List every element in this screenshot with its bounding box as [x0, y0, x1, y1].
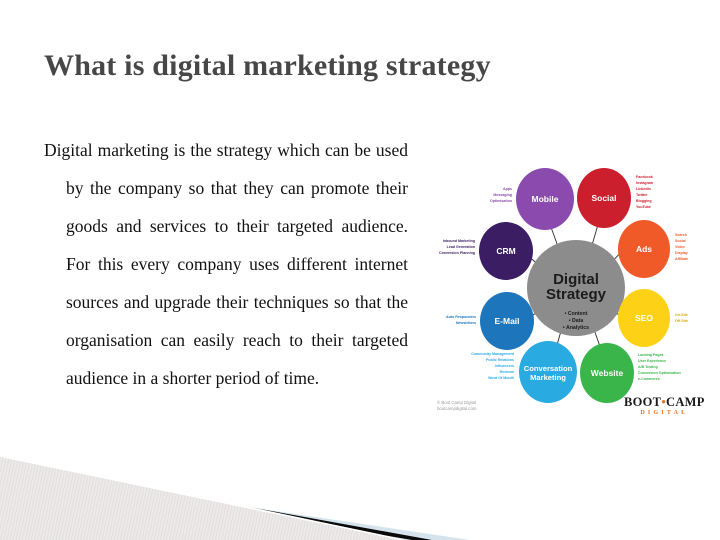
decorative-corner-bands [0, 440, 470, 540]
crm-item-2: Conversion Planning [439, 251, 475, 255]
mobile-item-2: Optimisation [490, 199, 512, 203]
ads-item-0: Search [675, 233, 687, 237]
ads-item-1: Social [675, 239, 686, 243]
hub-bullet-content: • Content [565, 311, 588, 317]
diagram-node-mobile[interactable]: Mobile [516, 168, 574, 230]
social-item-3: Twitter [636, 193, 648, 197]
social-item-1: Instagram [636, 181, 653, 185]
diagram-svg: Digital Strategy • Content • Data • Anal… [432, 166, 710, 414]
conv-item-0: Community Management [471, 352, 515, 356]
node-label-website: Website [591, 368, 624, 378]
crm-item-1: Lead Generation [447, 245, 475, 249]
conv-item-4: Word Of Mouth [488, 376, 514, 380]
web-item-2: A/B Testing [638, 365, 658, 369]
web-item-4: e-Commerce [638, 377, 660, 381]
deco-band-black [0, 462, 432, 540]
diagram-node-ads[interactable]: Ads [618, 220, 670, 278]
ads-item-4: Affiliate [675, 257, 688, 261]
logo-subtitle: DIGITAL [624, 410, 705, 416]
ads-item-2: Video [675, 245, 686, 249]
node-items-social: Facebook Instagram LinkedIn Twitter Blog… [636, 175, 653, 209]
digital-strategy-diagram: Digital Strategy • Content • Data • Anal… [432, 166, 710, 414]
conv-item-1: Public Relations [486, 358, 514, 362]
mobile-item-0: Apps [503, 187, 512, 191]
logo-word-camp: CAMP [666, 395, 705, 409]
social-item-2: LinkedIn [636, 187, 651, 191]
deco-band-white-edge [0, 454, 406, 540]
node-items-mobile: Apps Messaging Optimisation [490, 187, 512, 203]
mobile-item-1: Messaging [493, 193, 512, 197]
node-label-mobile: Mobile [532, 194, 559, 204]
body-paragraph-text: Digital marketing is the strategy which … [44, 131, 408, 397]
node-label-seo: SEO [635, 313, 653, 323]
web-item-1: User Experience [638, 359, 666, 363]
social-item-4: Blogging [636, 199, 652, 203]
seo-item-0: On-Site [675, 313, 688, 317]
diagram-hub: Digital Strategy • Content • Data • Anal… [527, 240, 625, 336]
conv-item-3: Reviews [500, 370, 514, 374]
hub-bullet-data: • Data [569, 318, 584, 324]
node-items-seo: On-Site Off-Site [675, 313, 688, 323]
diagram-node-conversation-marketing[interactable]: Conversation Marketing [519, 341, 577, 403]
diagram-node-crm[interactable]: CRM [479, 222, 533, 280]
node-items-website: Landing Pages User Experience A/B Testin… [638, 353, 681, 381]
node-items-crm: Inbound Marketing Lead Generation Conver… [439, 239, 475, 255]
page-title: What is digital marketing strategy [44, 48, 664, 84]
credit-line-2: bootcampdigital.com [437, 406, 476, 412]
bootcamp-digital-logo: BOOT•CAMP DIGITAL [624, 396, 705, 416]
diagram-credit: © Boot Camp Digital bootcampdigital.com [437, 400, 476, 412]
node-label-conversation-line1: Conversation [524, 364, 573, 373]
seo-item-1: Off-Site [675, 319, 688, 323]
diagram-node-email[interactable]: E-Mail [480, 292, 534, 350]
deco-band-blue [0, 470, 470, 540]
node-items-email: Auto Responders Newsletters [446, 315, 476, 325]
crm-item-0: Inbound Marketing [443, 239, 475, 243]
email-item-1: Newsletters [456, 321, 476, 325]
social-item-5: YouTube [636, 205, 651, 209]
node-label-email: E-Mail [494, 316, 519, 326]
diagram-node-seo[interactable]: SEO [618, 289, 670, 347]
node-items-conversation-marketing: Community Management Public Relations In… [471, 352, 515, 380]
slide: What is digital marketing strategy Digit… [0, 0, 720, 540]
deco-band-textured [0, 456, 408, 540]
conv-item-2: Influencers [495, 364, 514, 368]
node-label-crm: CRM [496, 246, 515, 256]
body-paragraph: Digital marketing is the strategy which … [44, 131, 408, 397]
node-items-ads: Search Social Video Display Affiliate [675, 233, 688, 261]
diagram-node-website[interactable]: Website [580, 343, 634, 403]
social-item-0: Facebook [636, 175, 653, 179]
hub-bullet-analytics: • Analytics [563, 325, 589, 331]
hub-title-line2: Strategy [546, 286, 607, 303]
email-item-0: Auto Responders [446, 315, 476, 319]
logo-word-boot: BOOT [624, 395, 661, 409]
web-item-3: Conversion Optimisation [638, 371, 681, 375]
logo-wordmark: BOOT•CAMP [624, 396, 705, 409]
ads-item-3: Display [675, 251, 688, 255]
diagram-node-social[interactable]: Social [577, 168, 631, 228]
node-label-ads: Ads [636, 244, 652, 254]
node-label-conversation-line2: Marketing [530, 373, 566, 382]
node-label-social: Social [591, 193, 616, 203]
web-item-0: Landing Pages [638, 353, 664, 357]
